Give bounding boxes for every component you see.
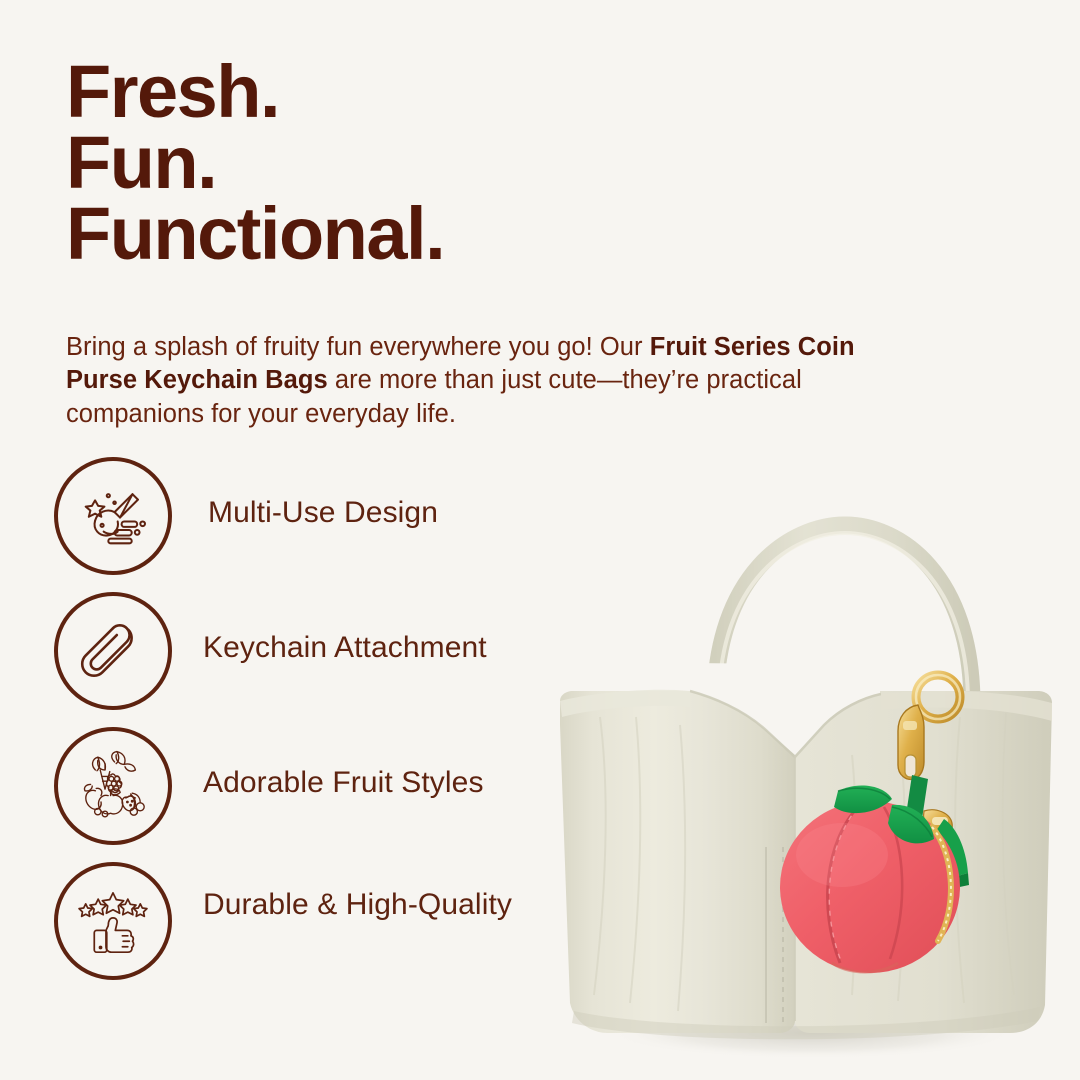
feature-item-keychain-attachment: Keychain Attachment (54, 592, 554, 727)
carabiner-clasp (898, 705, 924, 779)
paperclip-icon (54, 592, 172, 710)
fruit-basket-icon (54, 727, 172, 845)
feature-list: Multi-Use Design Keychain Attachment (54, 457, 554, 997)
feature-label: Keychain Attachment (203, 592, 487, 668)
feature-item-durable-high-quality: Durable & High-Quality (54, 862, 554, 997)
intro-paragraph: Bring a splash of fruity fun everywhere … (66, 331, 884, 432)
headline-line-1: Fresh. (66, 56, 706, 127)
product-image (540, 455, 1080, 1080)
thumbs-up-stars-icon (54, 862, 172, 980)
page-title: Fresh. Fun. Functional. (66, 56, 706, 269)
feature-label: Adorable Fruit Styles (203, 727, 484, 803)
headline-line-2: Fun. (66, 127, 706, 198)
intro-text-part-1: Bring a splash of fruity fun everywhere … (66, 333, 650, 361)
magic-wand-sparkle-icon (54, 457, 172, 575)
charm-highlight (796, 823, 888, 887)
feature-label: Multi-Use Design (208, 457, 438, 533)
promo-graphic: Fresh. Fun. Functional. Bring a splash o… (0, 0, 1080, 1080)
feature-label: Durable & High-Quality (203, 862, 512, 925)
headline-line-3: Functional. (66, 198, 706, 269)
feature-item-multi-use-design: Multi-Use Design (54, 457, 554, 592)
feature-item-adorable-fruit-styles: Adorable Fruit Styles (54, 727, 554, 862)
